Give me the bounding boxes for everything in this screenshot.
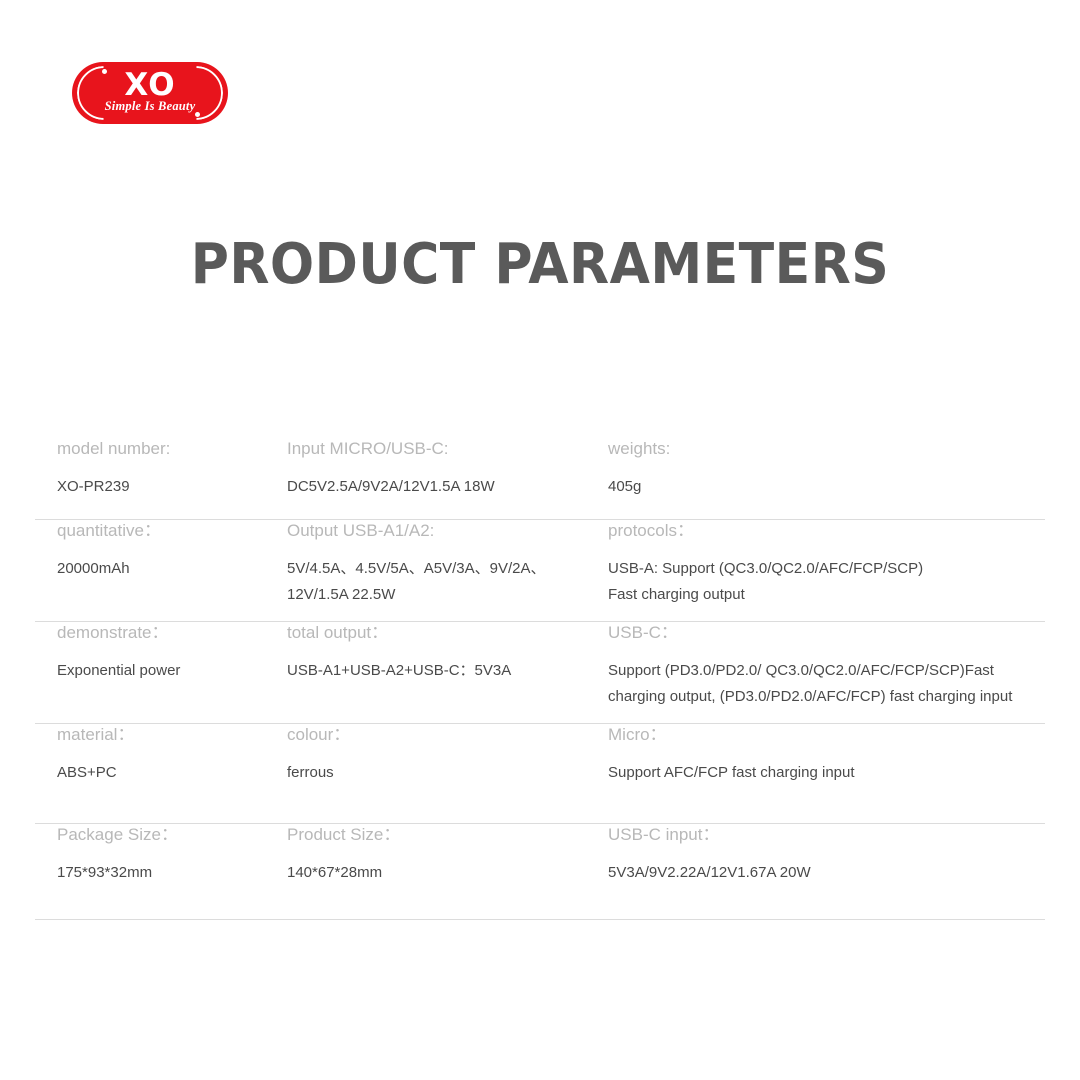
spec-value-line: Support (PD3.0/PD2.0/ QC3.0/QC2.0/AFC/FC… <box>608 658 1045 684</box>
spec-value-line: USB-A: Support (QC3.0/QC2.0/AFC/FCP/SCP) <box>608 556 1045 582</box>
spec-cell-quantitative: quantitative： 20000mAh <box>57 520 307 582</box>
spec-label: USB-C： <box>608 622 1045 644</box>
spec-value-line: 405g <box>608 474 1045 500</box>
product-parameters-table: model number: XO-PR239 Input MICRO/USB-C… <box>35 438 1045 920</box>
spec-cell-usb-c-input: USB-C input： 5V3A/9V2.22A/12V1.67A 20W <box>608 824 1045 886</box>
spec-value-line: USB-A1+USB-A2+USB-C：5V3A <box>287 658 607 684</box>
spec-value: 140*67*28mm <box>287 860 607 886</box>
spec-value: 405g <box>608 474 1045 500</box>
spec-value-line: Fast charging output <box>608 582 1045 608</box>
spec-label: USB-C input： <box>608 824 1045 846</box>
spec-cell-weights: weights: 405g <box>608 438 1045 500</box>
spec-cell-micro: Micro： Support AFC/FCP fast charging inp… <box>608 724 1045 786</box>
spec-cell-package-size: Package Size： 175*93*32mm <box>57 824 307 886</box>
spec-value-line: Exponential power <box>57 658 307 684</box>
logo-wordmark: XO <box>72 70 228 100</box>
table-row: material： ABS+PC colour： ferrous Micro： … <box>35 724 1045 824</box>
spec-label: quantitative： <box>57 520 307 542</box>
spec-label: Output USB-A1/A2: <box>287 520 607 542</box>
table-row: quantitative： 20000mAh Output USB-A1/A2:… <box>35 520 1045 622</box>
table-row: demonstrate： Exponential power total out… <box>35 622 1045 724</box>
spec-label: Micro： <box>608 724 1045 746</box>
spec-value-line: 140*67*28mm <box>287 860 607 886</box>
spec-value-line: charging output, (PD3.0/PD2.0/AFC/FCP) f… <box>608 684 1045 710</box>
spec-label: protocols： <box>608 520 1045 542</box>
spec-cell-product-size: Product Size： 140*67*28mm <box>287 824 607 886</box>
spec-label: weights: <box>608 438 1045 460</box>
page-title: PRODUCT PARAMETERS <box>38 232 1042 297</box>
spec-value: Support (PD3.0/PD2.0/ QC3.0/QC2.0/AFC/FC… <box>608 658 1045 710</box>
spec-value: Support AFC/FCP fast charging input <box>608 760 1045 786</box>
spec-value: Exponential power <box>57 658 307 684</box>
spec-value: DC5V2.5A/9V2A/12V1.5A 18W <box>287 474 607 500</box>
spec-value: ABS+PC <box>57 760 307 786</box>
spec-label: material： <box>57 724 307 746</box>
spec-label: model number: <box>57 438 307 460</box>
spec-value: USB-A1+USB-A2+USB-C：5V3A <box>287 658 607 684</box>
spec-value: 5V/4.5A、4.5V/5A、A5V/3A、9V/2A、 12V/1.5A 2… <box>287 556 607 608</box>
spec-label: Package Size： <box>57 824 307 846</box>
spec-value-line: XO-PR239 <box>57 474 307 500</box>
spec-cell-colour: colour： ferrous <box>287 724 607 786</box>
spec-value: 175*93*32mm <box>57 860 307 886</box>
spec-value-line: 5V/4.5A、4.5V/5A、A5V/3A、9V/2A、 <box>287 556 607 582</box>
spec-cell-demonstrate: demonstrate： Exponential power <box>57 622 307 684</box>
logo-tagline: Simple Is Beauty <box>72 99 228 114</box>
table-row: model number: XO-PR239 Input MICRO/USB-C… <box>35 438 1045 520</box>
spec-value-line: 20000mAh <box>57 556 307 582</box>
spec-cell-material: material： ABS+PC <box>57 724 307 786</box>
spec-label: Input MICRO/USB-C: <box>287 438 607 460</box>
spec-value: 5V3A/9V2.22A/12V1.67A 20W <box>608 860 1045 886</box>
spec-value-line: DC5V2.5A/9V2A/12V1.5A 18W <box>287 474 607 500</box>
spec-label: total output： <box>287 622 607 644</box>
spec-value-line: ABS+PC <box>57 760 307 786</box>
spec-value-line: 12V/1.5A 22.5W <box>287 582 607 608</box>
spec-label: colour： <box>287 724 607 746</box>
spec-cell-output-usb-a1-a2: Output USB-A1/A2: 5V/4.5A、4.5V/5A、A5V/3A… <box>287 520 607 608</box>
table-row: Package Size： 175*93*32mm Product Size： … <box>35 824 1045 920</box>
spec-value-line: 175*93*32mm <box>57 860 307 886</box>
spec-cell-total-output: total output： USB-A1+USB-A2+USB-C：5V3A <box>287 622 607 684</box>
spec-cell-protocols: protocols： USB-A: Support (QC3.0/QC2.0/A… <box>608 520 1045 608</box>
spec-value: ferrous <box>287 760 607 786</box>
brand-logo: XO Simple Is Beauty <box>72 62 228 124</box>
spec-label: demonstrate： <box>57 622 307 644</box>
spec-value-line: ferrous <box>287 760 607 786</box>
spec-value-line: Support AFC/FCP fast charging input <box>608 760 1045 786</box>
spec-label: Product Size： <box>287 824 607 846</box>
spec-cell-model-number: model number: XO-PR239 <box>57 438 307 500</box>
spec-value-line: 5V3A/9V2.22A/12V1.67A 20W <box>608 860 1045 886</box>
spec-cell-input-micro-usbc: Input MICRO/USB-C: DC5V2.5A/9V2A/12V1.5A… <box>287 438 607 500</box>
spec-cell-usb-c: USB-C： Support (PD3.0/PD2.0/ QC3.0/QC2.0… <box>608 622 1045 710</box>
spec-value: 20000mAh <box>57 556 307 582</box>
spec-value: USB-A: Support (QC3.0/QC2.0/AFC/FCP/SCP)… <box>608 556 1045 608</box>
spec-value: XO-PR239 <box>57 474 307 500</box>
